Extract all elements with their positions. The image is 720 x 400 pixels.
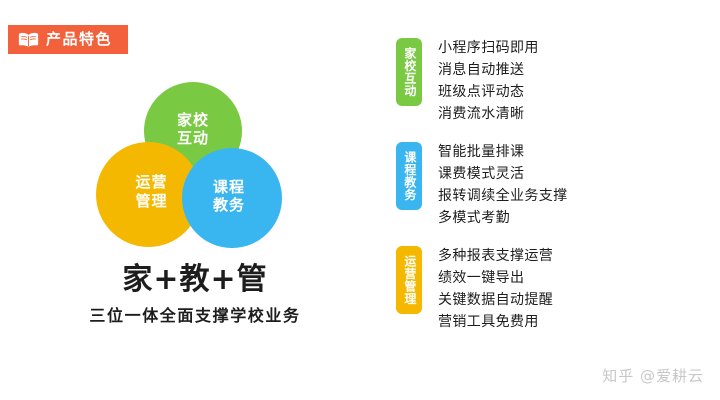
feature-item: 小程序扫码即用 — [438, 38, 539, 60]
venn-circle-curriculum-line2: 教务 — [213, 196, 245, 214]
feature-item: 多模式考勤 — [438, 208, 568, 230]
feature-item: 报转调续全业务支撑 — [438, 186, 568, 208]
feature-item: 班级点评动态 — [438, 82, 539, 104]
venn-circle-curriculum-line1: 课程 — [213, 178, 245, 196]
watermark: 知乎 @爱耕云 — [602, 365, 704, 386]
tagline-headline: 家+教+管 — [40, 262, 350, 297]
tagline-subtitle: 三位一体全面支撑学校业务 — [40, 306, 350, 325]
product-features-badge: 产品特色 — [8, 25, 128, 54]
open-book-icon — [18, 32, 39, 47]
venn-circle-home-school-line1: 家校 — [177, 111, 209, 129]
feature-tab-operations: 运营管理 — [396, 246, 422, 314]
feature-group-home-school: 家校互动 小程序扫码即用 消息自动推送 班级点评动态 消费流水清晰 — [396, 38, 696, 126]
feature-item: 营销工具免费用 — [438, 312, 553, 334]
badge-label: 产品特色 — [46, 32, 112, 47]
feature-list-operations: 多种报表支撑运营 绩效一键导出 关键数据自动提醒 营销工具免费用 — [438, 246, 553, 334]
feature-item: 课费模式灵活 — [438, 164, 568, 186]
venn-circle-home-school-line2: 互动 — [177, 129, 209, 147]
feature-item: 关键数据自动提醒 — [438, 290, 553, 312]
feature-groups: 家校互动 小程序扫码即用 消息自动推送 班级点评动态 消费流水清晰 课程教务 智… — [396, 38, 696, 350]
feature-item: 消费流水清晰 — [438, 104, 539, 126]
venn-circle-curriculum: 课程 教务 — [182, 148, 282, 248]
feature-tab-curriculum: 课程教务 — [396, 142, 422, 210]
venn-circle-operations-line2: 管理 — [135, 192, 167, 210]
feature-item: 消息自动推送 — [438, 60, 539, 82]
feature-item: 多种报表支撑运营 — [438, 246, 553, 268]
feature-group-curriculum: 课程教务 智能批量排课 课费模式灵活 报转调续全业务支撑 多模式考勤 — [396, 142, 696, 230]
feature-item: 绩效一键导出 — [438, 268, 553, 290]
venn-circle-operations-line1: 运营 — [135, 173, 167, 191]
venn-diagram: 家校 互动 运营 管理 课程 教务 — [96, 82, 286, 257]
tagline: 家+教+管 三位一体全面支撑学校业务 — [40, 262, 350, 326]
feature-group-operations: 运营管理 多种报表支撑运营 绩效一键导出 关键数据自动提醒 营销工具免费用 — [396, 246, 696, 334]
feature-list-curriculum: 智能批量排课 课费模式灵活 报转调续全业务支撑 多模式考勤 — [438, 142, 568, 230]
feature-tab-home-school: 家校互动 — [396, 38, 422, 106]
feature-list-home-school: 小程序扫码即用 消息自动推送 班级点评动态 消费流水清晰 — [438, 38, 539, 126]
feature-item: 智能批量排课 — [438, 142, 568, 164]
